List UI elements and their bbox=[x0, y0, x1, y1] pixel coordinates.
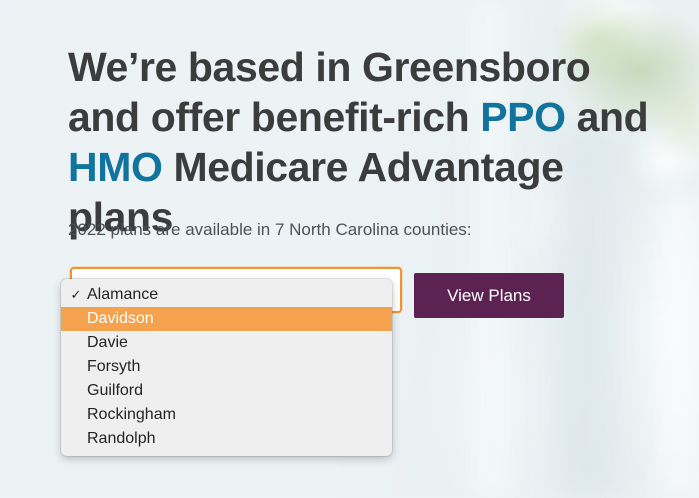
check-icon: ✓ bbox=[69, 283, 83, 307]
dropdown-option-label: Alamance bbox=[87, 286, 158, 303]
view-plans-button[interactable]: View Plans bbox=[414, 273, 564, 318]
hero-section: We’re based in Greensboro and offer bene… bbox=[0, 0, 699, 498]
dropdown-option[interactable]: Forsyth bbox=[61, 355, 392, 379]
headline-line-2-middle: and bbox=[566, 94, 649, 140]
dropdown-option[interactable]: Randolph bbox=[61, 427, 392, 451]
dropdown-option[interactable]: ✓Alamance bbox=[61, 283, 392, 307]
dropdown-option-label: Rockingham bbox=[87, 406, 176, 423]
headline-accent-hmo: HMO bbox=[68, 144, 162, 190]
dropdown-option-label: Randolph bbox=[87, 430, 156, 447]
hero-subtitle: 2022 plans are available in 7 North Caro… bbox=[68, 219, 472, 241]
background-light-streak bbox=[648, 200, 699, 498]
dropdown-option[interactable]: Guilford bbox=[61, 379, 392, 403]
dropdown-option[interactable]: Davie bbox=[61, 331, 392, 355]
headline-accent-ppo: PPO bbox=[480, 94, 565, 140]
hero-content: We’re based in Greensboro and offer bene… bbox=[68, 42, 668, 242]
dropdown-option[interactable]: Rockingham bbox=[61, 403, 392, 427]
headline-line-2-prefix: offer benefit-rich bbox=[151, 94, 481, 140]
dropdown-option-label: Guilford bbox=[87, 382, 143, 399]
dropdown-option-label: Davie bbox=[87, 334, 128, 351]
dropdown-option-label: Forsyth bbox=[87, 358, 140, 375]
dropdown-option-label: Davidson bbox=[87, 310, 154, 327]
page-title: We’re based in Greensboro and offer bene… bbox=[68, 42, 654, 242]
county-select-dropdown[interactable]: ✓AlamanceDavidsonDavieForsythGuilfordRoc… bbox=[61, 279, 392, 456]
dropdown-option[interactable]: Davidson bbox=[61, 307, 392, 331]
